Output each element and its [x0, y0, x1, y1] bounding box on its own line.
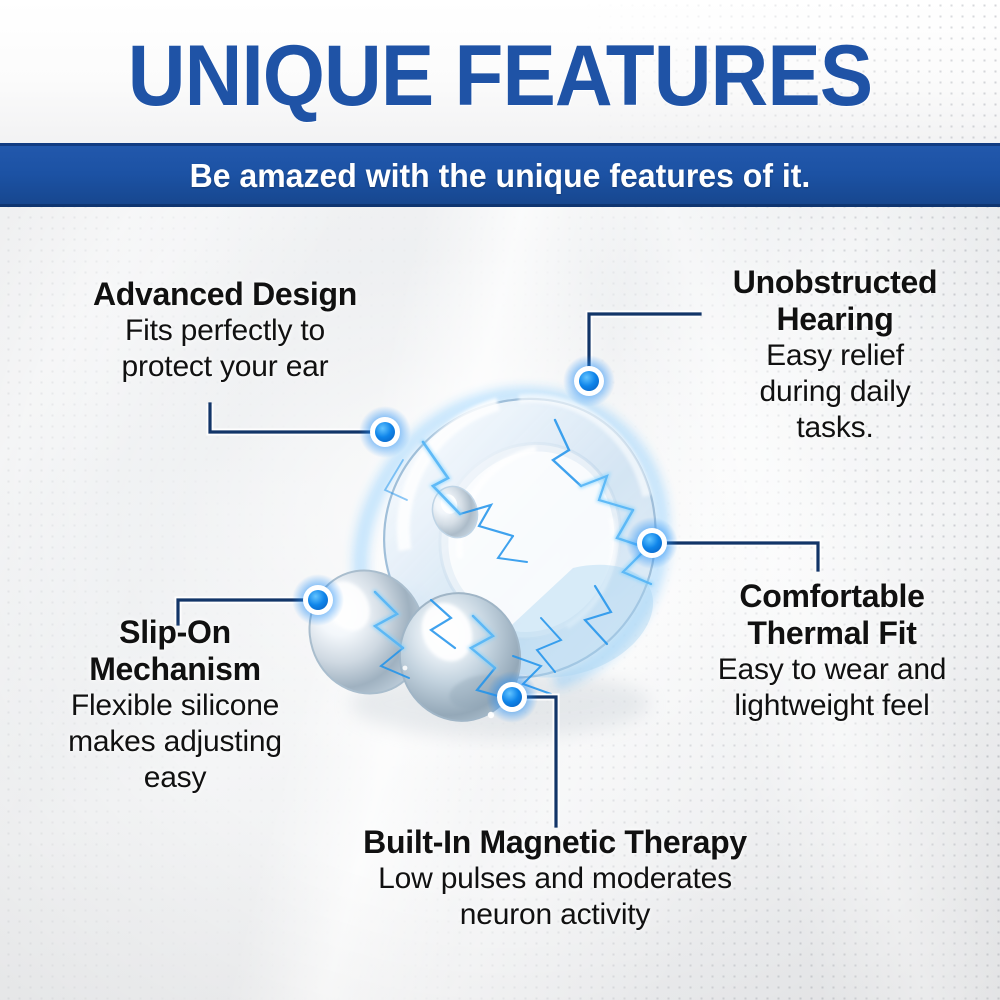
callout-slip-on-mechanism-title-line-2: Mechanism [10, 651, 340, 688]
infographic-canvas: UNIQUE FEATURES Be amazed with the uniqu… [0, 0, 1000, 1000]
callout-comfortable-thermal-fit-title-line-1: Comfortable [672, 578, 992, 615]
callout-advanced-design-body-line-2: protect your ear [30, 349, 420, 385]
callout-advanced-design-title: Advanced Design [30, 276, 420, 313]
callout-comfortable-thermal-fit-body-line-1: Easy to wear and [672, 652, 992, 688]
callout-built-in-magnetic-therapy: Built-In Magnetic Therapy Low pulses and… [295, 824, 815, 933]
callout-unobstructed-hearing: Unobstructed Hearing Easy relief during … [690, 264, 980, 446]
subtitle-band: Be amazed with the unique features of it… [0, 146, 1000, 207]
callout-unobstructed-hearing-body-line-3: tasks. [690, 410, 980, 446]
callout-unobstructed-hearing-body-line-2: during daily [690, 374, 980, 410]
callout-slip-on-mechanism-body-line-3: easy [10, 760, 340, 796]
callout-unobstructed-hearing-body-line-1: Easy relief [690, 338, 980, 374]
callout-built-in-magnetic-therapy-body-line-2: neuron activity [295, 897, 815, 933]
callout-advanced-design: Advanced Design Fits perfectly to protec… [30, 276, 420, 385]
callout-unobstructed-hearing-title-line-1: Unobstructed [690, 264, 980, 301]
callout-unobstructed-hearing-title-line-2: Hearing [690, 301, 980, 338]
callout-advanced-design-body-line-1: Fits perfectly to [30, 313, 420, 349]
callout-comfortable-thermal-fit-body-line-2: lightweight feel [672, 688, 992, 724]
page-title: UNIQUE FEATURES [35, 33, 965, 119]
callout-comfortable-thermal-fit-title-line-2: Thermal Fit [672, 615, 992, 652]
callout-slip-on-mechanism-body-line-1: Flexible silicone [10, 688, 340, 724]
callout-slip-on-mechanism-body-line-2: makes adjusting [10, 724, 340, 760]
callout-built-in-magnetic-therapy-title: Built-In Magnetic Therapy [295, 824, 815, 861]
callout-built-in-magnetic-therapy-body-line-1: Low pulses and moderates [295, 861, 815, 897]
header-area: UNIQUE FEATURES [0, 0, 1000, 146]
callout-slip-on-mechanism: Slip-On Mechanism Flexible silicone make… [10, 614, 340, 796]
page-subtitle: Be amazed with the unique features of it… [190, 159, 811, 192]
callout-slip-on-mechanism-title-line-1: Slip-On [10, 614, 340, 651]
callout-comfortable-thermal-fit: Comfortable Thermal Fit Easy to wear and… [672, 578, 992, 724]
